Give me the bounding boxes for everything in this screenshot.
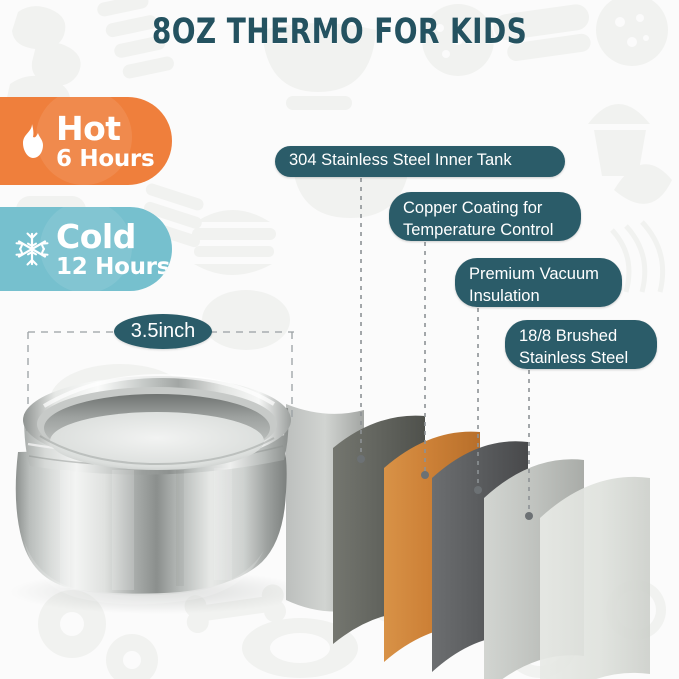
badge-cold: Cold 12 Hours <box>0 207 172 291</box>
callout-copper-coating: Copper Coating for Temperature Control <box>389 192 581 241</box>
flame-icon <box>12 124 52 158</box>
callout-inner-tank: 304 Stainless Steel Inner Tank <box>275 146 565 177</box>
snowflake-icon <box>12 232 52 266</box>
page-title: 8OZ THERMO FOR KIDS <box>68 12 611 52</box>
badge-hot: Hot 6 Hours <box>0 97 172 185</box>
badge-hot-label: Hot <box>56 112 172 145</box>
callout-brushed-steel: 18/8 Brushed Stainless Steel <box>505 320 657 369</box>
badge-cold-text: Cold 12 Hours <box>52 220 172 279</box>
badge-hot-duration: 6 Hours <box>56 148 172 171</box>
callout-vacuum-insulation: Premium Vacuum Insulation <box>455 258 622 307</box>
dimension-label: 3.5inch <box>114 314 212 349</box>
badge-hot-text: Hot 6 Hours <box>52 112 172 171</box>
infographic-canvas: 8OZ THERMO FOR KIDS Hot 6 Hours <box>0 0 679 679</box>
badge-cold-duration: 12 Hours <box>56 256 172 279</box>
badge-cold-label: Cold <box>56 220 172 253</box>
